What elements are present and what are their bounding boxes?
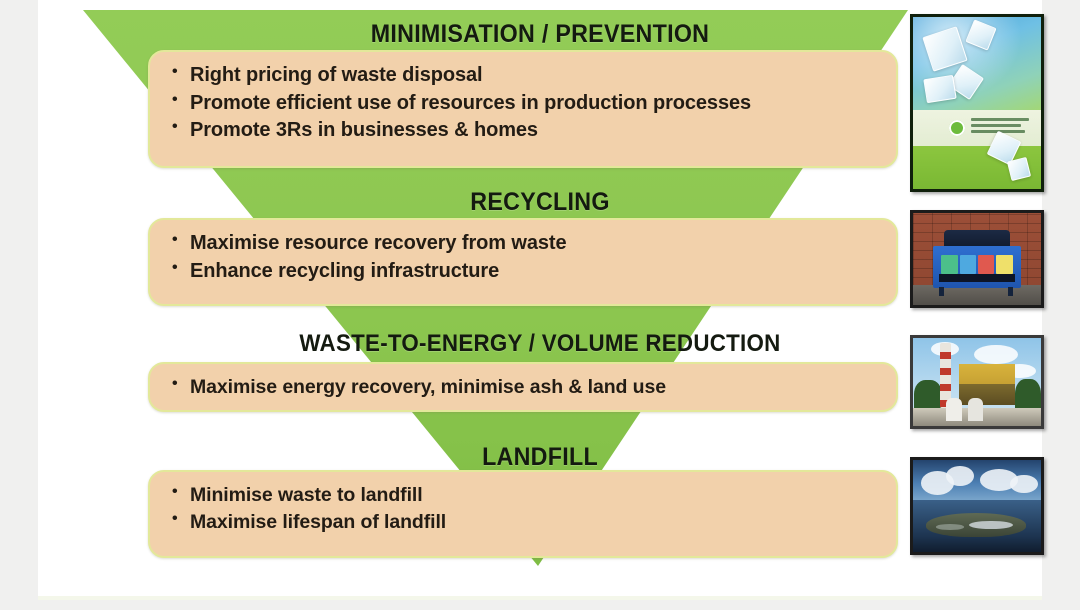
package-box-icon	[923, 75, 956, 103]
landfill-island-thumbnail	[910, 457, 1044, 555]
list-item: Maximise lifespan of landfill	[150, 509, 892, 536]
level-card-recycling: Maximise resource recovery from waste En…	[148, 218, 898, 306]
list-item: Minimise waste to landfill	[150, 482, 892, 509]
bullet-list-minimisation: Right pricing of waste disposal Promote …	[150, 62, 892, 145]
bullet-list-recycling: Maximise resource recovery from waste En…	[150, 230, 892, 285]
level-card-waste-to-energy: Maximise energy recovery, minimise ash &…	[148, 362, 898, 412]
diagram-canvas: MINIMISATION / PREVENTION Right pricing …	[0, 0, 1080, 610]
level-heading-landfill: LANDFILL	[73, 443, 1007, 472]
level-heading-minimisation: MINIMISATION / PREVENTION	[73, 20, 1007, 49]
list-item: Enhance recycling infrastructure	[150, 258, 892, 286]
bin-apron	[939, 274, 1016, 282]
level-card-minimisation: Right pricing of waste disposal Promote …	[148, 50, 898, 168]
cloud-icon	[946, 466, 974, 486]
bin-recycling-slots	[941, 255, 1013, 273]
island-shoreline	[936, 524, 964, 530]
white-canvas: MINIMISATION / PREVENTION Right pricing …	[38, 0, 1042, 600]
bullet-list-landfill: Minimise waste to landfill Maximise life…	[150, 482, 892, 536]
recycling-bin-thumbnail	[910, 210, 1044, 308]
bullet-list-waste-to-energy: Maximise energy recovery, minimise ash &…	[150, 374, 892, 401]
list-item: Maximise resource recovery from waste	[150, 230, 892, 258]
bin-leg	[939, 287, 944, 296]
bin-leg	[1008, 287, 1013, 296]
list-item: Right pricing of waste disposal	[150, 62, 892, 90]
list-item: Promote efficient use of resources in pr…	[150, 90, 892, 118]
packaging-agreement-poster-thumbnail	[910, 14, 1044, 192]
list-item: Maximise energy recovery, minimise ash &…	[150, 374, 892, 401]
incineration-plant-thumbnail	[910, 335, 1044, 429]
level-heading-recycling: RECYCLING	[73, 188, 1007, 217]
level-card-landfill: Minimise waste to landfill Maximise life…	[148, 470, 898, 558]
level-heading-waste-to-energy: WASTE-TO-ENERGY / VOLUME REDUCTION	[73, 330, 1007, 358]
foreground-structure	[946, 398, 961, 421]
list-item: Promote 3Rs in businesses & homes	[150, 117, 892, 145]
island-shoreline	[969, 521, 1013, 529]
foreground-structure	[968, 398, 983, 421]
